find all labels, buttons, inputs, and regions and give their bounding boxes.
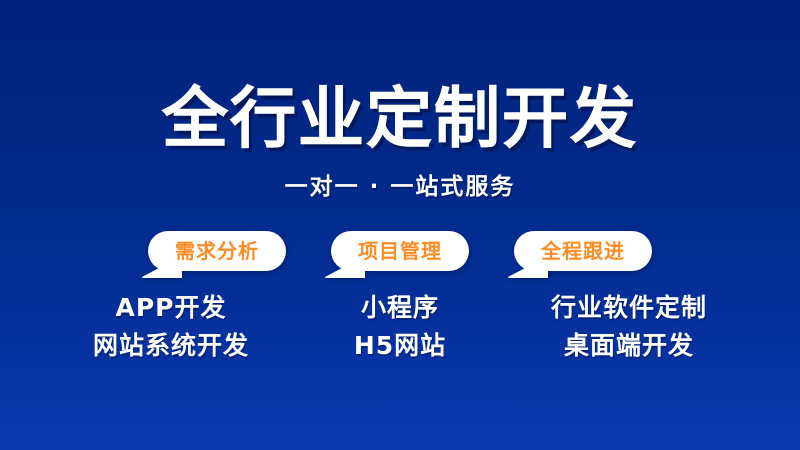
service-item: APP开发 bbox=[116, 295, 227, 320]
service-row: APP开发 网站系统开发 小程序 H5网站 行业软件定制 桌面端开发 bbox=[79, 295, 722, 358]
badge-label: 全程跟进 bbox=[541, 241, 625, 261]
badge-requirement-analysis[interactable]: 需求分析 bbox=[148, 231, 286, 271]
service-item: 桌面端开发 bbox=[564, 333, 694, 358]
service-item: H5网站 bbox=[354, 333, 446, 358]
badge-row: 需求分析 项目管理 全程跟进 bbox=[148, 231, 652, 271]
badge-project-management[interactable]: 项目管理 bbox=[331, 231, 469, 271]
badge-full-process-tracking[interactable]: 全程跟进 bbox=[514, 231, 652, 271]
badge-label: 项目管理 bbox=[358, 241, 442, 261]
service-column-3: 行业软件定制 桌面端开发 bbox=[537, 295, 722, 358]
service-column-2: 小程序 H5网站 bbox=[308, 295, 493, 358]
service-item: 行业软件定制 bbox=[551, 295, 707, 320]
service-item: 网站系统开发 bbox=[93, 333, 249, 358]
banner-subtitle: 一对一 · 一站式服务 bbox=[285, 176, 516, 199]
badge-label: 需求分析 bbox=[175, 241, 259, 261]
banner-title: 全行业定制开发 bbox=[162, 86, 638, 152]
promo-banner: 全行业定制开发 一对一 · 一站式服务 需求分析 项目管理 全程跟进 APP开发… bbox=[0, 0, 800, 450]
service-column-1: APP开发 网站系统开发 bbox=[79, 295, 264, 358]
service-item: 小程序 bbox=[361, 295, 439, 320]
